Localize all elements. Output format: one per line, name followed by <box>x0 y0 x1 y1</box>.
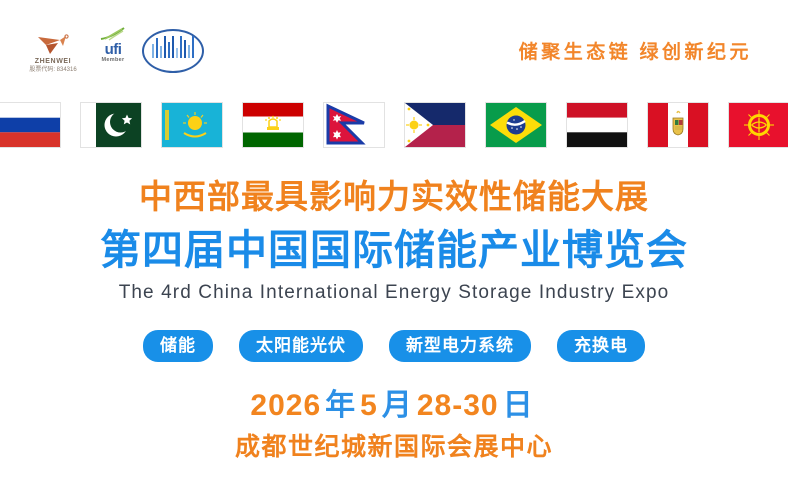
ufi-member-label: Member <box>102 58 125 64</box>
topic-tag-new-power-system[interactable]: 新型电力系统 <box>389 330 531 362</box>
flag-kazakhstan <box>161 102 223 148</box>
event-year-unit: 年 <box>325 389 356 422</box>
flag-nepal <box>323 102 385 148</box>
event-year: 2026 <box>250 389 321 422</box>
topic-tag-solar-pv[interactable]: 太阳能光伏 <box>239 330 363 362</box>
event-days: 28-30 <box>417 389 499 422</box>
flag-pakistan <box>80 102 142 148</box>
event-day-unit: 日 <box>503 389 534 422</box>
flag-yemen <box>566 102 628 148</box>
zhenwei-stock-code: 股票代码: 834316 <box>29 67 76 73</box>
headline-text: 中西部最具影响力实效性储能大展 <box>0 178 788 216</box>
barcode-bars <box>152 36 194 58</box>
logo-cluster: ZHENWEI 股票代码: 834316 ufi Member <box>22 27 204 73</box>
topic-tag-storage[interactable]: 储能 <box>143 330 213 362</box>
zhenwei-name: ZHENWEI <box>35 58 71 65</box>
topic-tag-row: 储能 太阳能光伏 新型电力系统 充换电 <box>0 330 788 362</box>
flag-brazil <box>485 102 547 148</box>
flag-tajikistan <box>242 102 304 148</box>
zhenwei-logo: ZHENWEI 股票代码: 834316 <box>22 34 84 73</box>
ufi-wordmark: ufi <box>105 42 122 57</box>
event-venue: 成都世纪城新国际会展中心 <box>0 432 788 462</box>
event-date: 2026年5月28-30日 <box>0 388 788 424</box>
event-month: 5 <box>360 389 378 422</box>
event-month-unit: 月 <box>382 389 413 422</box>
flag-row <box>0 96 788 154</box>
page-title: 第四届中国国际储能产业博览会 <box>0 226 788 274</box>
flag-kyrgyzstan <box>728 102 788 148</box>
topic-tag-charging-swapping[interactable]: 充换电 <box>557 330 645 362</box>
flag-peru <box>647 102 709 148</box>
barcode-oval-icon <box>142 29 204 73</box>
poster-root: ZHENWEI 股票代码: 834316 ufi Member <box>0 0 788 483</box>
flag-philippines <box>404 102 466 148</box>
ufi-leaf-icon <box>100 27 126 41</box>
ufi-logo: ufi Member <box>93 27 133 73</box>
subtitle-english: The 4rd China International Energy Stora… <box>0 282 788 305</box>
zhenwei-bird-icon <box>36 34 70 56</box>
header-slogan: 储聚生态链 绿创新纪元 <box>519 37 766 64</box>
flag-russia <box>0 102 61 148</box>
header-bar: ZHENWEI 股票代码: 834316 ufi Member <box>0 22 788 78</box>
